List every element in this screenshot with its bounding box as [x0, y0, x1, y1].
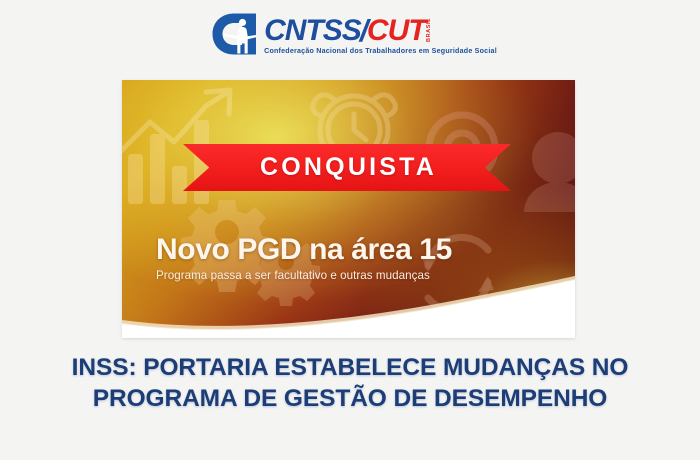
headline-line-2: PROGRAMA DE GESTÃO DE DESEMPENHO — [14, 383, 686, 414]
logo-wordmark-brasil: BRASIL — [427, 20, 433, 42]
banner-wave-divider — [122, 276, 575, 338]
banner-title: Novo PGD na área 15 — [156, 234, 556, 266]
logo-text-block: CNTSS / CUT BRASIL Confederação Nacional… — [264, 13, 497, 55]
logo-wordmark: CNTSS / CUT BRASIL — [264, 15, 497, 46]
site-logo-header: CNTSS / CUT BRASIL Confederação Nacional… — [0, 0, 700, 68]
banner-text-block: Novo PGD na área 15 Programa passa a ser… — [156, 234, 556, 282]
article-headline: INSS: PORTARIA ESTABELECE MUDANÇAS NO PR… — [0, 352, 700, 415]
logo-tagline: Confederação Nacional dos Trabalhadores … — [264, 47, 497, 55]
logo-wordmark-cut: CUT — [367, 16, 426, 46]
logo[interactable]: CNTSS / CUT BRASIL Confederação Nacional… — [211, 12, 497, 56]
conquista-ribbon: CONQUISTA — [183, 144, 511, 191]
headline-line-1: INSS: PORTARIA ESTABELECE MUDANÇAS NO — [14, 352, 686, 383]
ribbon-label: CONQUISTA — [183, 144, 511, 191]
article-banner-image[interactable]: CONQUISTA Novo PGD na área 15 Programa p… — [122, 80, 575, 338]
person-arms-open-in-c-icon — [211, 12, 257, 56]
logo-wordmark-cntss: CNTSS — [264, 16, 361, 46]
